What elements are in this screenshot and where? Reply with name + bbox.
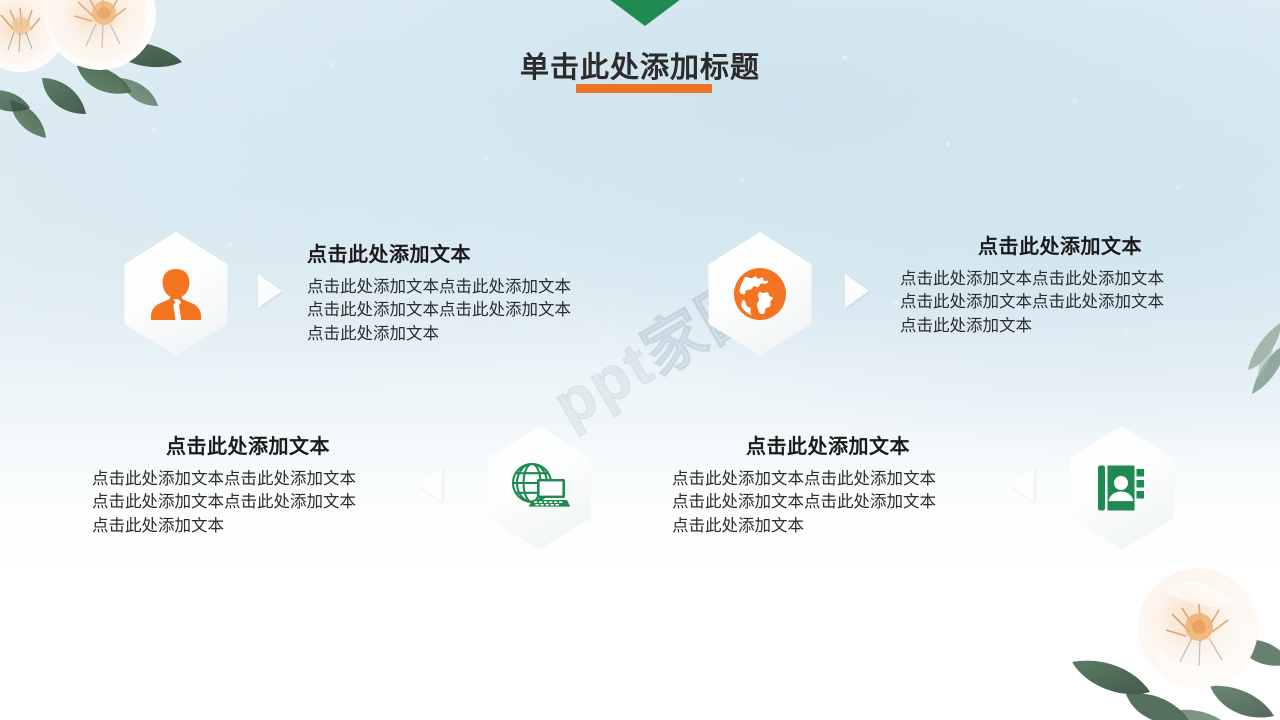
content-heading-bottom-left: 点击此处添加文本 [92, 430, 404, 459]
content-body-top-left: 点击此处添加文本点击此处添加文本 点击此处添加文本点击此处添加文本 点击此处添加… [307, 276, 627, 346]
address-book-contact-icon [1093, 459, 1151, 517]
content-body-bottom-right: 点击此处添加文本点击此处添加文本 点击此处添加文本点击此处添加文本 点击此处添加… [672, 468, 984, 538]
globe-laptop-network-icon [508, 459, 570, 517]
title-underline-bar [576, 84, 712, 93]
arrow-left-icon-bottom-left [418, 468, 442, 502]
content-block-bottom-left: 点击此处添加文本 点击此处添加文本点击此处添加文本 点击此处添加文本点击此处添加… [92, 430, 404, 538]
user-person-icon [146, 265, 206, 323]
arrow-right-icon-top-left [258, 274, 282, 308]
content-body-bottom-left: 点击此处添加文本点击此处添加文本 点击此处添加文本点击此处添加文本 点击此处添加… [92, 468, 404, 538]
title-green-triangle-icon [609, 0, 681, 26]
content-block-bottom-right: 点击此处添加文本 点击此处添加文本点击此处添加文本 点击此处添加文本点击此处添加… [672, 430, 984, 538]
arrow-right-icon-top-right [845, 274, 869, 308]
content-block-top-left: 点击此处添加文本 点击此处添加文本点击此处添加文本 点击此处添加文本点击此处添加… [307, 238, 627, 346]
content-heading-top-right: 点击此处添加文本 [900, 230, 1220, 259]
content-heading-top-left: 点击此处添加文本 [307, 238, 627, 267]
globe-earth-icon [730, 264, 790, 324]
slide-canvas: ppt家园 单击此处添加标题 点击此处添加文本 点击此处添加文本点击此处添加文本… [0, 0, 1280, 720]
content-block-top-right: 点击此处添加文本 点击此处添加文本点击此处添加文本 点击此处添加文本点击此处添加… [900, 230, 1220, 338]
content-heading-bottom-right: 点击此处添加文本 [672, 430, 984, 459]
arrow-left-icon-bottom-right [1010, 468, 1034, 502]
content-body-top-right: 点击此处添加文本点击此处添加文本 点击此处添加文本点击此处添加文本 点击此处添加… [900, 268, 1220, 338]
page-title: 单击此处添加标题 [0, 44, 1280, 86]
